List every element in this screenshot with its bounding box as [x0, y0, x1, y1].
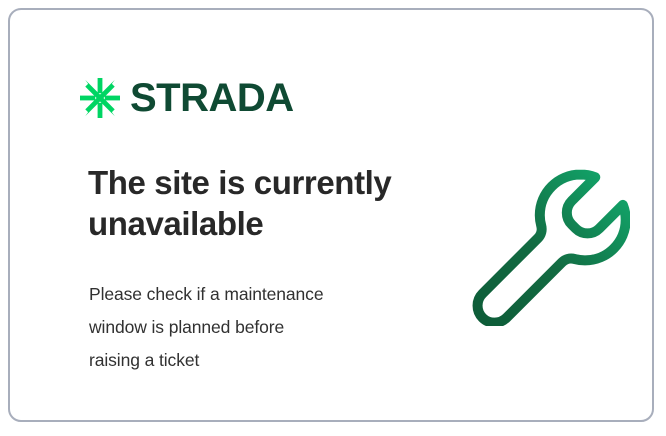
status-card: STRADA The site is currently unavailable… — [8, 8, 654, 422]
brand-wordmark: STRADA — [130, 78, 294, 118]
page-title: The site is currently unavailable — [88, 162, 428, 244]
error-page: STRADA The site is currently unavailable… — [0, 0, 666, 436]
brand-logo: STRADA — [80, 74, 294, 122]
page-description: Please check if a maintenance window is … — [89, 278, 409, 377]
description-line-2: window is planned before — [89, 311, 409, 344]
description-line-3: raising a ticket — [89, 344, 409, 377]
description-line-1: Please check if a maintenance — [89, 278, 409, 311]
wrench-icon — [462, 158, 630, 326]
strada-asterisk-icon — [80, 78, 120, 118]
